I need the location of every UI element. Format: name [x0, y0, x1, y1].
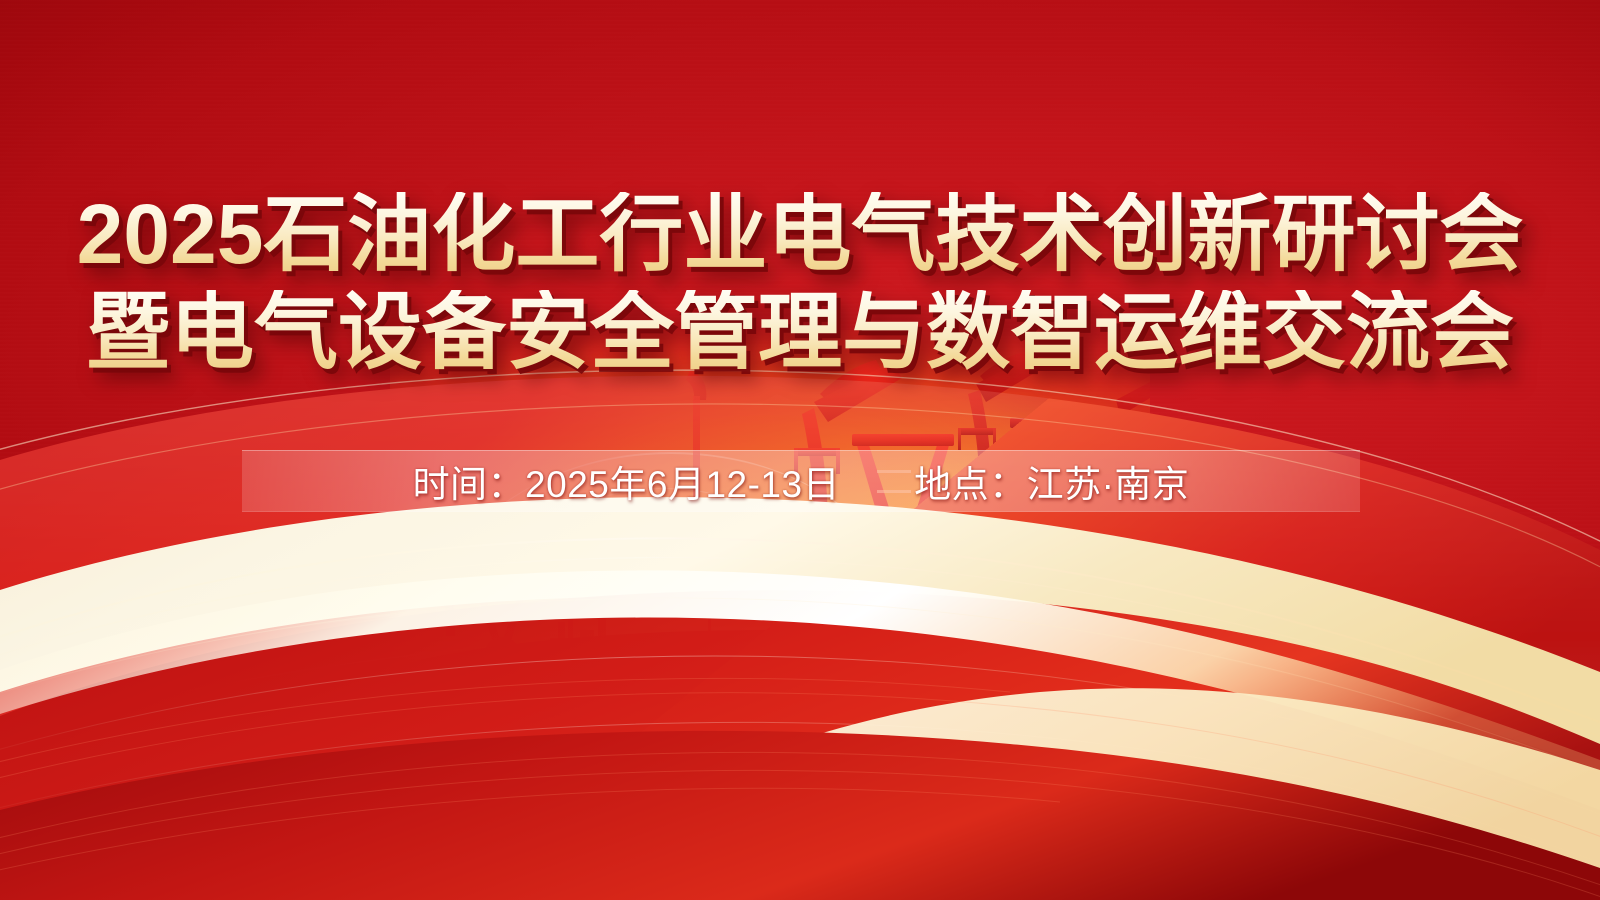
event-location: 地点：江苏·南京: [914, 454, 1189, 508]
title-line-2: 暨电气设备安全管理与数智运维交流会: [0, 290, 1600, 376]
title-line-1: 2025石油化工行业电气技术创新研讨会: [0, 192, 1600, 278]
conference-banner: 2025石油化工行业电气技术创新研讨会 暨电气设备安全管理与数智运维交流会 时间…: [0, 0, 1600, 900]
event-info-bar: 时间：2025年6月12-13日 地点：江苏·南京: [242, 450, 1360, 512]
event-title: 2025石油化工行业电气技术创新研讨会 暨电气设备安全管理与数智运维交流会: [0, 192, 1600, 375]
silk-ribbon-waves: [0, 340, 1600, 900]
event-date: 时间：2025年6月12-13日: [413, 454, 841, 508]
